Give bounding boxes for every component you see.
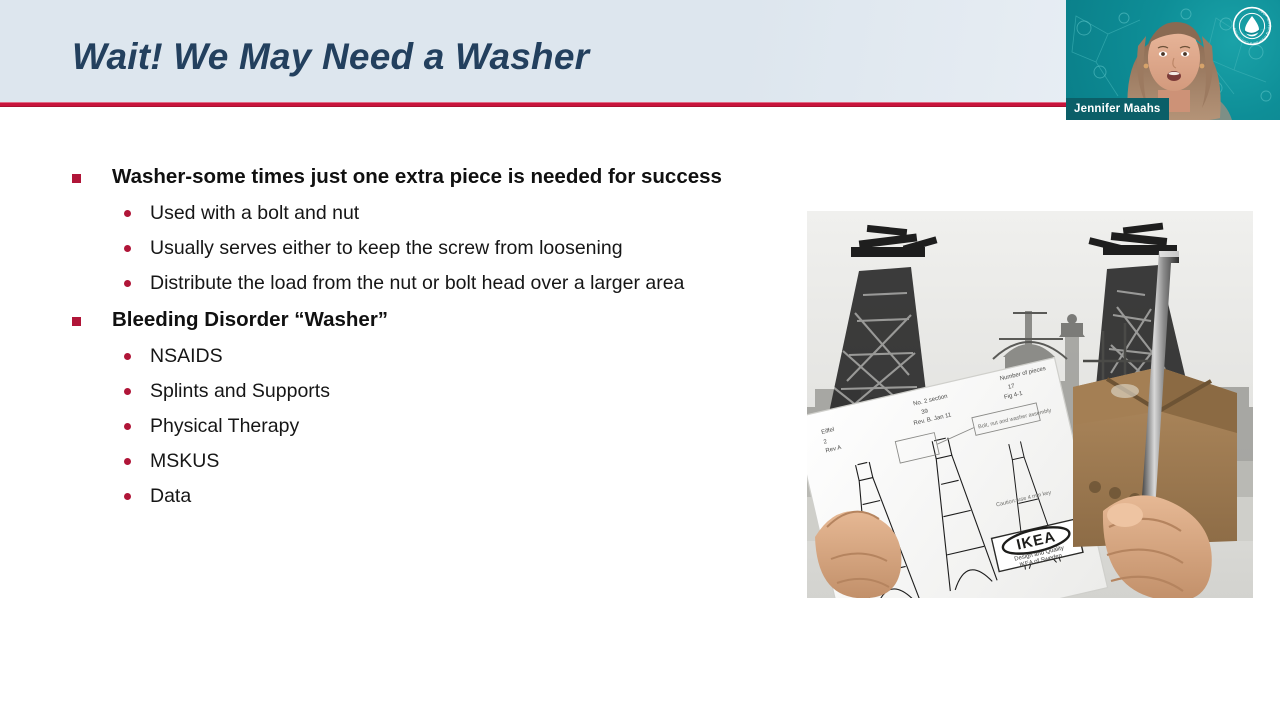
bullet-level1: Washer-some times just one extra piece i… [0,160,810,194]
page-title: Wait! We May Need a Washer [72,36,589,78]
dot-bullet-icon [124,280,131,287]
bullet-list: Washer-some times just one extra piece i… [0,160,810,514]
bullet-level2-label: Usually serves either to keep the screw … [150,237,623,259]
bullet-level1-label: Washer-some times just one extra piece i… [112,165,722,188]
bullet-level2-label: NSAIDS [150,345,223,367]
bullet-level2: Distribute the load from the nut or bolt… [0,266,810,301]
square-bullet-icon [72,317,81,326]
bullet-level2-label: Distribute the load from the nut or bolt… [150,272,684,294]
dot-bullet-icon [124,210,131,217]
slide-canvas: Wait! We May Need a Washer Washer-some t… [0,0,1280,720]
bullet-level2: NSAIDS [0,339,810,374]
dot-bullet-icon [124,245,131,252]
dot-bullet-icon [124,388,131,395]
presenter-video-tile[interactable]: NBDF Bleeding Disorders Conference Jenni… [1066,0,1280,120]
dot-bullet-icon [124,423,131,430]
bullet-level2: Splints and Supports [0,374,810,409]
dot-bullet-icon [124,458,131,465]
bullet-level2-label: Physical Therapy [150,415,299,437]
slide-photo: Eiffel No. 2 section Number of pieces 2 … [807,211,1253,598]
bullet-level2: Data [0,479,810,514]
dot-bullet-icon [124,493,131,500]
bullet-level2: MSKUS [0,444,810,479]
bullet-level2: Usually serves either to keep the screw … [0,231,810,266]
eiffel-tower-construction-photo: Eiffel No. 2 section Number of pieces 2 … [807,211,1253,598]
bullet-level2-label: Data [150,485,191,507]
conference-logo-icon: NBDF Bleeding Disorders Conference [1232,6,1272,46]
bullet-level2-label: Used with a bolt and nut [150,202,359,224]
bullet-level2: Physical Therapy [0,409,810,444]
bullet-level2-label: Splints and Supports [150,380,330,402]
square-bullet-icon [72,174,81,183]
dot-bullet-icon [124,353,131,360]
bullet-level1-label: Bleeding Disorder “Washer” [112,308,388,331]
bullet-level1: Bleeding Disorder “Washer” [0,303,810,337]
bullet-level2: Used with a bolt and nut [0,196,810,231]
presenter-name-label: Jennifer Maahs [1066,98,1169,120]
bullet-level2-label: MSKUS [150,450,219,472]
